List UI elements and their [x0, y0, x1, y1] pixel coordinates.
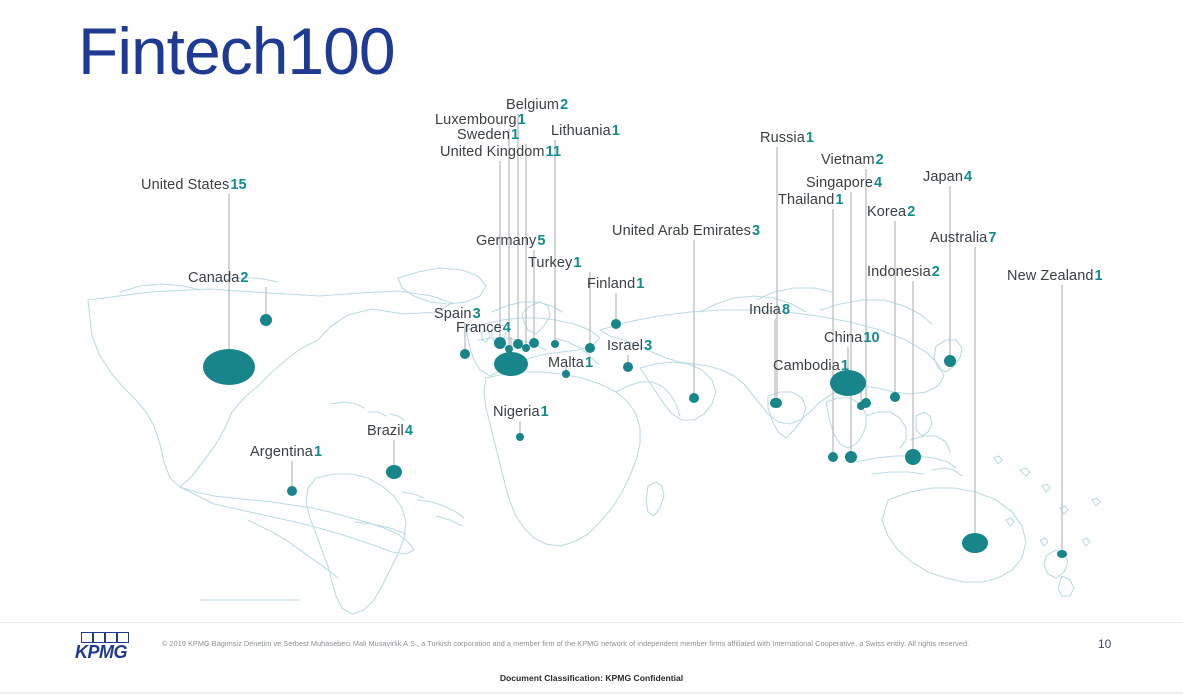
- country-count-korea: 2: [907, 204, 915, 220]
- bubble-germany[interactable]: [529, 338, 539, 348]
- country-count-france: 4: [503, 320, 511, 336]
- country-label-korea: Korea2: [867, 205, 915, 220]
- country-count-canada: 2: [240, 270, 248, 286]
- country-count-india: 8: [782, 302, 790, 318]
- country-label-germany: Germany5: [476, 234, 546, 249]
- bubble-cambodia[interactable]: [857, 402, 865, 410]
- country-label-finland: Finland1: [587, 277, 644, 292]
- country-name-united-states: United States: [141, 177, 229, 193]
- country-count-nigeria: 1: [541, 404, 549, 420]
- country-count-australia: 7: [988, 230, 996, 246]
- bubble-argentina[interactable]: [287, 486, 297, 496]
- country-label-thailand: Thailand1: [778, 193, 844, 208]
- bubble-spain[interactable]: [460, 349, 470, 359]
- bottom-divider: [0, 692, 1183, 694]
- country-count-indonesia: 2: [932, 264, 940, 280]
- kpmg-wordmark: KPMG: [75, 642, 127, 663]
- country-count-vietnam: 2: [876, 152, 884, 168]
- country-count-japan: 4: [964, 169, 972, 185]
- country-label-argentina: Argentina1: [250, 445, 322, 460]
- country-count-russia: 1: [806, 130, 814, 146]
- country-label-vietnam: Vietnam2: [821, 153, 884, 168]
- bubble-brazil[interactable]: [386, 465, 402, 479]
- country-bubble-layer: [0, 0, 1183, 696]
- country-label-india: India8: [749, 303, 790, 318]
- copyright-text: © 2019 KPMG Bagimsiz Denetim ve Serbest …: [162, 639, 969, 648]
- country-label-malta: Malta1: [548, 356, 593, 371]
- bubble-turkey[interactable]: [585, 343, 595, 353]
- bubble-korea[interactable]: [890, 392, 900, 402]
- page-number: 10: [1098, 637, 1111, 651]
- country-name-israel: Israel: [607, 338, 643, 354]
- bubble-lithuania[interactable]: [551, 340, 559, 348]
- country-count-new-zealand: 1: [1095, 268, 1103, 284]
- country-name-cambodia: Cambodia: [773, 358, 840, 374]
- country-label-united-arab-emirates: United Arab Emirates3: [612, 224, 760, 239]
- country-count-sweden: 1: [511, 127, 519, 143]
- country-name-brazil: Brazil: [367, 423, 404, 439]
- bubble-india[interactable]: [770, 398, 780, 408]
- bubble-united-kingdom[interactable]: [494, 337, 506, 349]
- country-name-luxembourg: Luxembourg: [435, 112, 517, 128]
- country-label-canada: Canada2: [188, 271, 249, 286]
- country-count-cambodia: 1: [841, 358, 849, 374]
- bubble-singapore[interactable]: [845, 451, 857, 463]
- kpmg-logo: KPMG: [75, 632, 131, 662]
- country-name-indonesia: Indonesia: [867, 264, 931, 280]
- country-name-turkey: Turkey: [528, 255, 572, 271]
- country-name-thailand: Thailand: [778, 192, 834, 208]
- country-label-new-zealand: New Zealand1: [1007, 269, 1103, 284]
- country-name-malta: Malta: [548, 355, 584, 371]
- country-label-united-kingdom: United Kingdom11: [440, 145, 561, 160]
- country-name-lithuania: Lithuania: [551, 123, 611, 139]
- bubble-australia[interactable]: [962, 533, 988, 553]
- country-count-china: 10: [863, 330, 879, 346]
- bubble-finland[interactable]: [611, 319, 621, 329]
- country-count-argentina: 1: [314, 444, 322, 460]
- country-count-malta: 1: [585, 355, 593, 371]
- country-label-turkey: Turkey1: [528, 256, 582, 271]
- country-name-australia: Australia: [930, 230, 987, 246]
- country-name-france: France: [456, 320, 502, 336]
- country-label-lithuania: Lithuania1: [551, 124, 620, 139]
- country-name-russia: Russia: [760, 130, 805, 146]
- country-name-belgium: Belgium: [506, 97, 559, 113]
- country-label-japan: Japan4: [923, 170, 972, 185]
- bubble-united-arab-emirates[interactable]: [689, 393, 699, 403]
- country-name-sweden: Sweden: [457, 127, 510, 143]
- country-label-belgium: Belgium2: [506, 98, 568, 113]
- country-count-lithuania: 1: [612, 123, 620, 139]
- country-name-nigeria: Nigeria: [493, 404, 540, 420]
- country-name-korea: Korea: [867, 204, 906, 220]
- bubble-canada[interactable]: [260, 314, 272, 326]
- country-label-russia: Russia1: [760, 131, 814, 146]
- bubble-israel[interactable]: [623, 362, 633, 372]
- slide-canvas: Fintech100: [0, 0, 1183, 696]
- country-count-germany: 5: [537, 233, 545, 249]
- country-name-new-zealand: New Zealand: [1007, 268, 1094, 284]
- country-label-united-states: United States15: [141, 178, 247, 193]
- country-label-singapore: Singapore4: [806, 176, 882, 191]
- bubble-malta[interactable]: [562, 370, 570, 378]
- country-label-sweden: Sweden1: [457, 128, 519, 143]
- bubble-thailand[interactable]: [828, 452, 838, 462]
- country-count-finland: 1: [636, 276, 644, 292]
- footer-divider: [0, 622, 1183, 623]
- country-count-united-kingdom: 11: [546, 144, 562, 160]
- country-name-finland: Finland: [587, 276, 635, 292]
- bubble-indonesia[interactable]: [905, 449, 921, 465]
- country-name-united-kingdom: United Kingdom: [440, 144, 545, 160]
- country-count-united-states: 15: [230, 177, 246, 193]
- country-name-india: India: [749, 302, 781, 318]
- country-label-israel: Israel3: [607, 339, 652, 354]
- country-label-france: France4: [456, 321, 511, 336]
- country-count-israel: 3: [644, 338, 652, 354]
- country-label-brazil: Brazil4: [367, 424, 413, 439]
- country-count-thailand: 1: [835, 192, 843, 208]
- country-count-belgium: 2: [560, 97, 568, 113]
- bubble-united-states[interactable]: [203, 349, 255, 385]
- country-label-luxembourg: Luxembourg1: [435, 113, 526, 128]
- country-label-indonesia: Indonesia2: [867, 265, 940, 280]
- country-name-argentina: Argentina: [250, 444, 313, 460]
- country-count-luxembourg: 1: [518, 112, 526, 128]
- bubble-france[interactable]: [494, 352, 528, 376]
- country-label-cambodia: Cambodia1: [773, 359, 849, 374]
- country-label-china: China10: [824, 331, 880, 346]
- document-classification: Document Classification: KPMG Confidenti…: [0, 673, 1183, 683]
- country-label-australia: Australia7: [930, 231, 997, 246]
- bubble-japan[interactable]: [944, 355, 956, 367]
- country-label-nigeria: Nigeria1: [493, 405, 549, 420]
- country-name-united-arab-emirates: United Arab Emirates: [612, 223, 751, 239]
- country-name-vietnam: Vietnam: [821, 152, 875, 168]
- bubble-new-zealand[interactable]: [1057, 550, 1067, 558]
- country-name-germany: Germany: [476, 233, 536, 249]
- country-name-china: China: [824, 330, 862, 346]
- country-count-brazil: 4: [405, 423, 413, 439]
- country-name-canada: Canada: [188, 270, 239, 286]
- country-count-united-arab-emirates: 3: [752, 223, 760, 239]
- country-name-singapore: Singapore: [806, 175, 873, 191]
- country-name-japan: Japan: [923, 169, 963, 185]
- country-count-turkey: 1: [573, 255, 581, 271]
- bubble-nigeria[interactable]: [516, 433, 524, 441]
- country-count-singapore: 4: [874, 175, 882, 191]
